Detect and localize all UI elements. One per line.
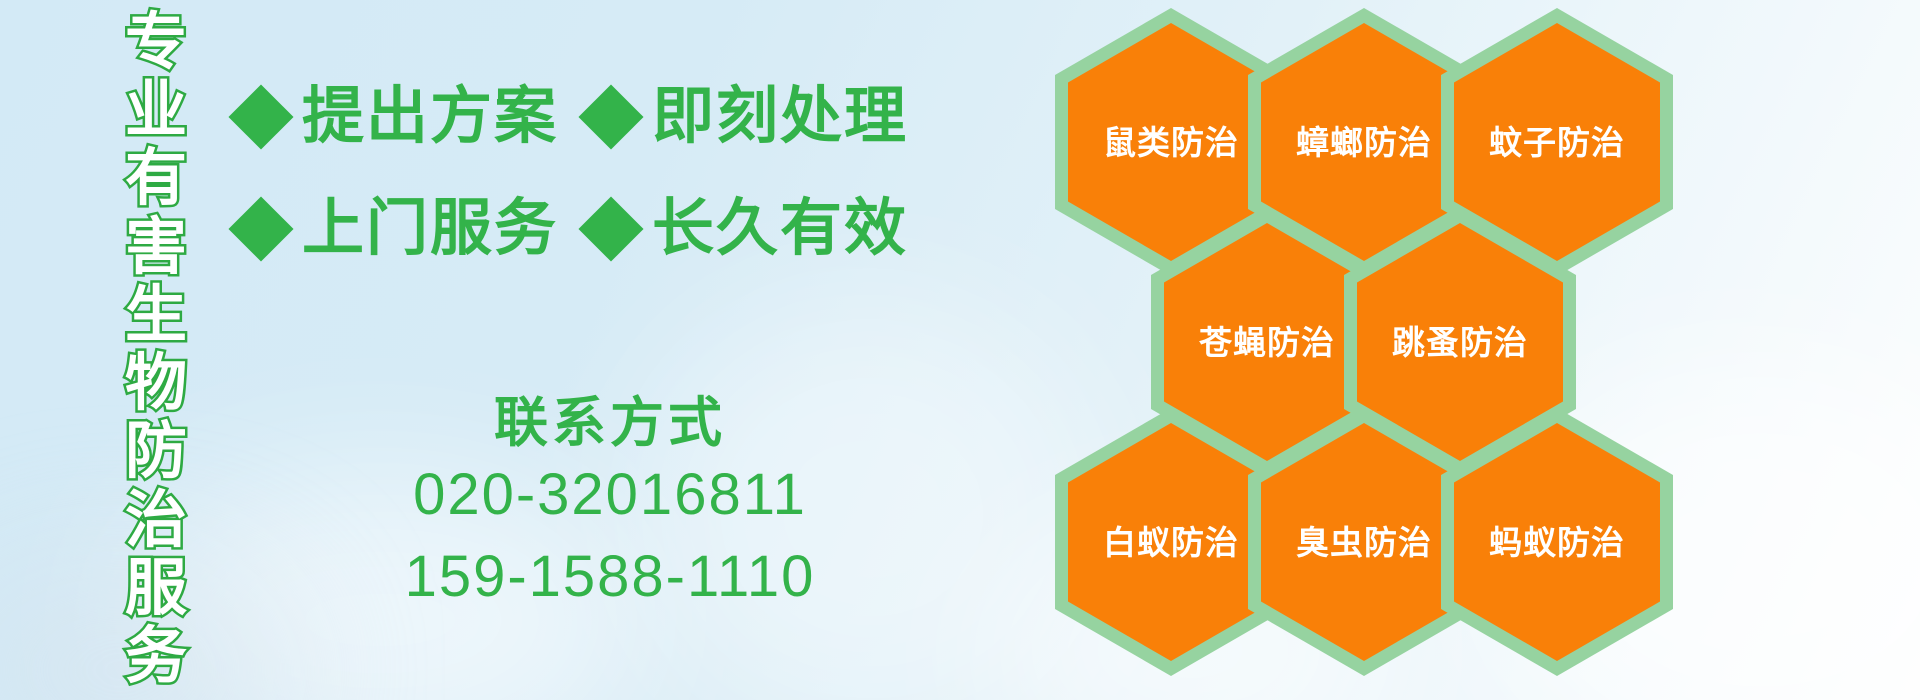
service-label: 臭虫防治 [1296,526,1432,559]
feature-label: 长久有效 [652,198,908,260]
feature-item: 即刻处理 [588,86,908,148]
vertical-headline-char: 专 [125,12,187,74]
vertical-headline-char: 服 [125,558,187,620]
service-label: 苍蝇防治 [1199,326,1335,359]
hex-inner: 白蚁防治 [1068,423,1274,661]
feature-item: 提出方案 [238,86,558,148]
contact-phone-landline[interactable]: 020-32016811 [330,454,890,536]
service-label: 鼠类防治 [1103,126,1239,159]
contact-heading: 联系方式 [330,392,890,454]
service-label: 蚂蚁防治 [1489,526,1625,559]
feature-row: 上门服务 长久有效 [238,198,908,260]
feature-label: 上门服务 [302,198,558,260]
service-label: 白蚁防治 [1103,526,1239,559]
diamond-bullet-icon [578,196,643,261]
vertical-headline-char: 务 [125,626,187,688]
vertical-headline-char: 治 [125,490,187,552]
diamond-bullet-icon [228,84,293,149]
service-label: 蟑螂防治 [1296,126,1432,159]
hex-inner: 蚂蚁防治 [1454,423,1660,661]
feature-label: 即刻处理 [652,86,908,148]
vertical-headline: 专 业 有 害 生 物 防 治 服 务 [104,12,208,688]
vertical-headline-char: 有 [125,148,187,210]
service-label: 蚊子防治 [1489,126,1625,159]
feature-item: 上门服务 [238,198,558,260]
contact-phone-mobile[interactable]: 159-1588-1110 [330,536,890,618]
contact-block: 联系方式 020-32016811 159-1588-1110 [330,392,890,619]
vertical-headline-char: 物 [125,353,187,415]
hex-inner: 臭虫防治 [1261,423,1467,661]
feature-item: 长久有效 [588,198,908,260]
vertical-headline-char: 生 [125,285,187,347]
feature-label: 提出方案 [302,86,558,148]
service-label: 跳蚤防治 [1392,326,1528,359]
feature-row: 提出方案 即刻处理 [238,86,908,148]
vertical-headline-char: 害 [125,217,187,279]
service-hex-grid: 鼠类防治 蟑螂防治 蚊子防治 苍蝇防治 跳蚤防治 白蚁防治 [1055,0,1920,700]
vertical-headline-char: 业 [125,80,187,142]
vertical-headline-char: 防 [125,421,187,483]
promo-banner: 专 业 有 害 生 物 防 治 服 务 提出方案 即刻处理 上门服务 长久有效 [0,0,1920,700]
diamond-bullet-icon [228,196,293,261]
diamond-bullet-icon [578,84,643,149]
